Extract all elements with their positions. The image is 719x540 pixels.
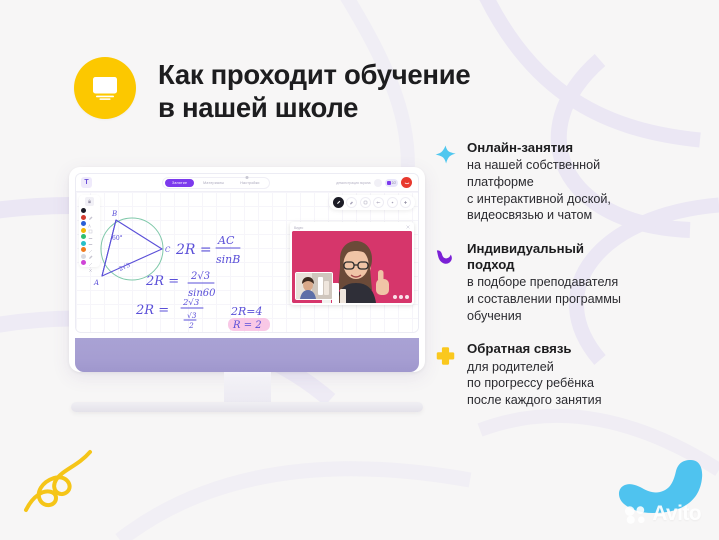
app-logo-icon: Т [81, 177, 92, 188]
monitor-stand-base [71, 402, 423, 412]
tab-settings[interactable]: Настройки [233, 179, 266, 187]
result-highlight: R = 2 [228, 318, 270, 331]
feature-body: для родителей по прогрессу ребёнка после… [467, 359, 704, 409]
video-call-panel[interactable]: Видео [290, 222, 414, 305]
color-palette-panel[interactable] [79, 195, 100, 267]
feature-item-individual-approach: Индивидуальный подход в подборе преподав… [432, 241, 704, 324]
palette-row[interactable] [80, 260, 99, 265]
pip-thumbnail[interactable] [295, 272, 333, 300]
feature-item-online-lessons: Онлайн-занятия на нашей собственной плат… [432, 140, 704, 224]
add-tool-icon[interactable] [400, 197, 411, 208]
avito-label: Avito [652, 502, 701, 526]
participants-badge[interactable]: 2/2 [385, 179, 398, 187]
svg-text:2R =: 2R = [135, 303, 169, 318]
webcam-dot [246, 176, 249, 179]
video-panel-header: Видео [292, 224, 412, 231]
avito-logo-icon [624, 503, 649, 525]
people-icon [387, 181, 391, 185]
svg-text:A: A [93, 279, 99, 287]
svg-text:AC: AC [217, 234, 235, 247]
video-panel-title: Видео [294, 226, 303, 230]
feature-title: Обратная связь [467, 341, 704, 357]
monitor-stand-neck [224, 372, 271, 402]
settings-icon[interactable] [374, 179, 382, 187]
svg-text:sinB: sinB [216, 253, 240, 266]
star-icon [432, 140, 458, 167]
participants-count: 2/2 [392, 181, 396, 185]
end-call-icon[interactable] [401, 177, 412, 188]
svg-text:2R =: 2R = [175, 242, 212, 258]
feature-item-feedback: Обратная связь для родителей по прогресс… [432, 341, 704, 408]
video-stream [292, 231, 412, 303]
sticky-note-tool-icon[interactable] [360, 197, 371, 208]
palette-row[interactable] [80, 241, 99, 246]
palette-row[interactable] [80, 208, 99, 213]
svg-text:B: B [111, 210, 117, 218]
feature-body: на нашей собственной платформе с интерак… [467, 157, 704, 224]
page-header: Как проходит обучение в нашей школе [74, 57, 470, 124]
palette-row[interactable] [80, 254, 99, 259]
svg-text:60°: 60° [112, 235, 123, 242]
svg-text:2R=4: 2R=4 [230, 305, 263, 318]
page-title: Как проходит обучение в нашей школе [158, 57, 470, 124]
avito-watermark: Avito [624, 502, 701, 526]
shapes-tool-icon[interactable] [373, 197, 384, 208]
monitor-chin [75, 338, 419, 372]
feature-text: Индивидуальный подход в подборе преподав… [467, 241, 704, 324]
plus-icon [432, 341, 458, 366]
eraser-tool-icon[interactable] [346, 197, 357, 208]
whiteboard[interactable]: B A C 60° 2√3 2R = AC sinB 2R = [76, 192, 418, 333]
close-icon[interactable] [406, 225, 410, 230]
svg-text:2R =: 2R = [145, 274, 179, 289]
pen-tool-icon[interactable] [333, 197, 344, 208]
monitor-screen: Т Занятие Материалы Настройки демонстрац… [75, 173, 419, 333]
app-tabs: Занятие Материалы Настройки [162, 177, 270, 189]
mic-button[interactable] [393, 295, 397, 299]
laser-tool-icon[interactable] [387, 197, 398, 208]
yellow-swirl-decoration [18, 448, 98, 514]
palette-row[interactable] [80, 228, 99, 233]
monitor-icon [74, 57, 136, 119]
video-controls[interactable] [393, 295, 409, 299]
monitor-frame: Т Занятие Материалы Настройки демонстрац… [69, 167, 425, 372]
svg-text:2√3: 2√3 [190, 271, 210, 282]
palette-row[interactable] [80, 221, 99, 226]
palette-row[interactable] [80, 215, 99, 220]
app-toolbar-right: демонстрация экрана 2/2 [336, 177, 413, 188]
feature-body: в подборе преподавателя и составлении пр… [467, 274, 704, 324]
svg-text:C: C [165, 246, 171, 254]
feature-text: Онлайн-занятия на нашей собственной плат… [467, 140, 704, 224]
monitor-mockup: Т Занятие Материалы Настройки демонстрац… [69, 167, 425, 412]
more-button[interactable] [405, 295, 409, 299]
palette-rows [80, 208, 99, 265]
svg-text:√3: √3 [187, 311, 197, 320]
svg-text:R = 2: R = 2 [232, 320, 262, 331]
crescent-icon [432, 241, 458, 268]
tab-materials[interactable]: Материалы [196, 179, 231, 187]
session-status-label: демонстрация экрана [336, 181, 370, 185]
palette-row[interactable] [80, 247, 99, 252]
tab-lesson[interactable]: Занятие [165, 179, 194, 187]
slide-canvas: Как проходит обучение в нашей школе Т За… [0, 0, 719, 540]
camera-button[interactable] [399, 295, 403, 299]
svg-text:2√3: 2√3 [182, 298, 199, 308]
feature-title: Индивидуальный подход [467, 241, 704, 273]
feature-text: Обратная связь для родителей по прогресс… [467, 341, 704, 408]
whiteboard-toolbar[interactable] [329, 195, 416, 210]
feature-list: Онлайн-занятия на нашей собственной плат… [432, 140, 704, 426]
feature-title: Онлайн-занятия [467, 140, 704, 156]
palette-row[interactable] [80, 234, 99, 239]
svg-text:2: 2 [188, 321, 194, 330]
lock-icon[interactable] [85, 197, 94, 206]
